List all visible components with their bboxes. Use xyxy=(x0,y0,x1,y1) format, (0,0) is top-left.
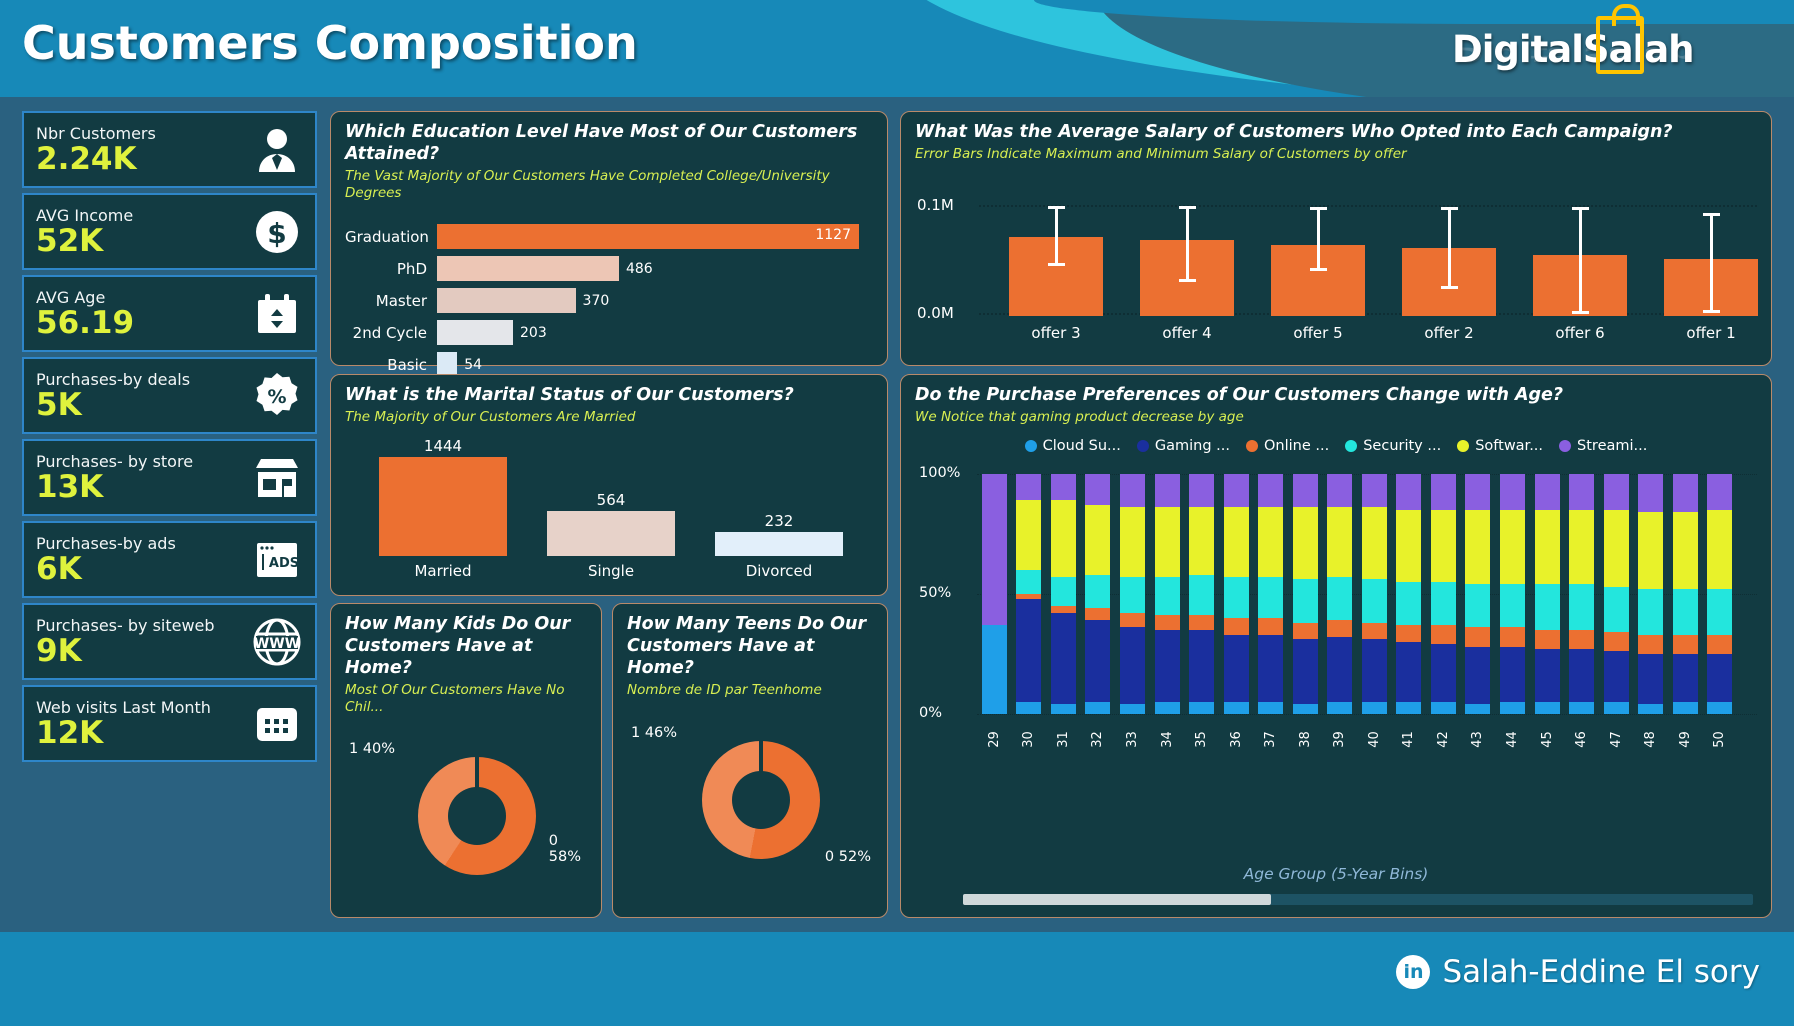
marital-status-plot: 1444Married564Single232Divorced xyxy=(345,434,873,582)
stacked-bar-column[interactable] xyxy=(1293,474,1318,714)
panel-title: What Was the Average Salary of Customers… xyxy=(915,122,1757,144)
kpi-card-avg-income[interactable]: AVG Income 52K $ xyxy=(22,193,317,270)
stacked-bar-segment[interactable] xyxy=(1465,627,1490,646)
legend-label: Streami... xyxy=(1577,438,1647,454)
error-bar-line xyxy=(1317,207,1320,270)
campaign-bar-column[interactable]: offer 6 xyxy=(1533,184,1627,316)
stacked-bar-segment[interactable] xyxy=(1673,702,1698,714)
stacked-bar-segment[interactable] xyxy=(1569,649,1594,702)
y-axis-tick-label: 0% xyxy=(919,705,942,721)
legend-item[interactable]: Cloud Su... xyxy=(1025,438,1121,454)
stacked-bar-segment[interactable] xyxy=(1707,635,1732,654)
stacked-bar-segment[interactable] xyxy=(1431,702,1456,714)
age-group-x-label: 29 xyxy=(987,718,1002,761)
stacked-bar-segment[interactable] xyxy=(1120,474,1145,508)
marital-status-chart-panel[interactable]: What is the Marital Status of Our Custom… xyxy=(330,374,888,596)
panel-subtitle: The Vast Majority of Our Customers Have … xyxy=(345,168,873,202)
stacked-bar-segment[interactable] xyxy=(1224,507,1249,577)
linkedin-icon[interactable]: in xyxy=(1396,955,1430,989)
stacked-bar-segment[interactable] xyxy=(1431,582,1456,625)
campaign-x-label: offer 5 xyxy=(1271,324,1365,342)
stacked-bar-segment[interactable] xyxy=(1604,510,1629,587)
stacked-bar-segment[interactable] xyxy=(1120,704,1145,714)
stacked-bar-segment[interactable] xyxy=(1604,632,1629,651)
stacked-bar-segment[interactable] xyxy=(1362,507,1387,579)
error-bar-line xyxy=(1448,207,1451,289)
kpi-value: 13K xyxy=(36,471,193,504)
stacked-bar-segment[interactable] xyxy=(1500,702,1525,714)
stacked-bar-column[interactable] xyxy=(1189,474,1214,714)
stacked-bar-column[interactable] xyxy=(1155,474,1180,714)
svg-text:WWW: WWW xyxy=(254,636,300,652)
error-bar-cap-bottom xyxy=(1179,279,1196,282)
stacked-bar-segment[interactable] xyxy=(1707,589,1732,635)
stacked-bar-segment[interactable] xyxy=(1673,654,1698,702)
marital-bar-column[interactable] xyxy=(547,511,675,556)
y-axis-tick-label: 50% xyxy=(919,585,951,601)
campaign-bar-column[interactable]: offer 3 xyxy=(1009,184,1103,316)
stacked-bar-column[interactable] xyxy=(1431,474,1456,714)
stacked-bar-segment[interactable] xyxy=(1535,630,1560,649)
chart-legend[interactable]: Cloud Su...Gaming ...Online ...Security … xyxy=(915,438,1757,454)
kpi-card-avg-age[interactable]: AVG Age 56.19 xyxy=(22,275,317,352)
stacked-bar-segment[interactable] xyxy=(1707,510,1732,589)
kpi-column: Nbr Customers 2.24K AVG Income 52K $ AVG… xyxy=(22,111,317,767)
stacked-bar-segment[interactable] xyxy=(1362,702,1387,714)
panel-title: How Many Kids Do Our Customers Have at H… xyxy=(345,614,587,680)
legend-label: Gaming ... xyxy=(1155,438,1230,454)
panel-title: Do the Purchase Preferences of Our Custo… xyxy=(915,385,1757,407)
campaign-bar-column[interactable]: offer 2 xyxy=(1402,184,1496,316)
stacked-bar-segment[interactable] xyxy=(1016,474,1041,500)
stacked-bar-column[interactable] xyxy=(1224,474,1249,714)
kpi-value: 5K xyxy=(36,389,190,422)
campaign-bar-column[interactable]: offer 1 xyxy=(1664,184,1758,316)
stacked-bar-segment[interactable] xyxy=(1120,577,1145,613)
marital-bar-column[interactable] xyxy=(715,532,843,556)
stacked-bar-segment[interactable] xyxy=(1396,702,1421,714)
age-group-x-label: 42 xyxy=(1436,718,1451,761)
kpi-card-purchases-by-deals[interactable]: Purchases-by deals 5K % xyxy=(22,357,317,434)
stacked-bar-segment[interactable] xyxy=(1535,584,1560,630)
stacked-bar-segment[interactable] xyxy=(1465,474,1490,510)
stacked-bar-segment[interactable] xyxy=(1120,627,1145,704)
education-bar-row[interactable]: PhD486 xyxy=(345,256,873,282)
error-bar-cap-bottom xyxy=(1572,311,1589,314)
campaign-salary-plot: 0.0M0.1Moffer 3offer 4offer 5offer 2offe… xyxy=(979,181,1757,316)
stacked-bar-segment[interactable] xyxy=(1189,474,1214,508)
stacked-bar-column[interactable] xyxy=(1638,474,1663,714)
stacked-bar-column[interactable] xyxy=(1327,474,1352,714)
teens-at-home-chart-panel[interactable]: How Many Teens Do Our Customers Have at … xyxy=(612,603,888,918)
legend-color-swatch xyxy=(1559,440,1571,452)
stacked-bar-segment[interactable] xyxy=(1673,474,1698,512)
stacked-bar-segment[interactable] xyxy=(1293,507,1318,579)
stacked-bar-segment[interactable] xyxy=(1569,702,1594,714)
stacked-bar-segment[interactable] xyxy=(1293,639,1318,704)
svg-text:$: $ xyxy=(267,217,286,250)
marital-bar[interactable] xyxy=(715,532,843,556)
scrollbar-thumb[interactable] xyxy=(963,894,1271,905)
legend-label: Softwar... xyxy=(1475,438,1543,454)
education-bar[interactable] xyxy=(437,320,513,345)
stacked-bar-column[interactable] xyxy=(1120,474,1145,714)
stacked-bar-segment[interactable] xyxy=(1707,702,1732,714)
donut-separator xyxy=(475,757,479,789)
brand-logo: DigitalSalah DigitalSalah xyxy=(1452,14,1772,86)
stacked-bar-segment[interactable] xyxy=(1431,510,1456,582)
stacked-bar-column[interactable] xyxy=(982,474,1007,714)
kpi-label: Purchases-by deals xyxy=(36,370,190,389)
stacked-bar-segment[interactable] xyxy=(1500,474,1525,510)
stacked-bar-segment[interactable] xyxy=(1085,608,1110,620)
kpi-card-purchases-by-siteweb[interactable]: Purchases- by siteweb 9K WWW xyxy=(22,603,317,680)
stacked-bar-segment[interactable] xyxy=(1155,577,1180,615)
kpi-label: Purchases-by ads xyxy=(36,534,176,553)
teens-donut-wrap: 1 46% 0 52% xyxy=(627,707,873,897)
svg-text:ADS: ADS xyxy=(269,556,299,571)
age-group-x-label: 34 xyxy=(1160,718,1175,761)
stacked-bar-segment[interactable] xyxy=(1362,474,1387,508)
panel-subtitle: The Majority of Our Customers Are Marrie… xyxy=(345,409,873,426)
stacked-bar-segment[interactable] xyxy=(1327,702,1352,714)
stacked-bar-segment[interactable] xyxy=(1224,618,1249,635)
stacked-bar-segment[interactable] xyxy=(1085,505,1110,575)
y-axis-tick-label: 100% xyxy=(919,465,960,481)
stacked-bar-segment[interactable] xyxy=(1396,625,1421,642)
education-bar-value: 203 xyxy=(520,325,547,341)
education-category-label: Master xyxy=(345,292,437,310)
error-bar-cap-bottom xyxy=(1048,263,1065,266)
storefront-icon xyxy=(251,452,303,504)
stacked-bar-segment[interactable] xyxy=(1569,510,1594,584)
kpi-label: Nbr Customers xyxy=(36,124,156,143)
stacked-bar-segment[interactable] xyxy=(1362,579,1387,622)
stacked-bar-column[interactable] xyxy=(1707,474,1732,714)
dashboard-header: Customers Composition DigitalSalah Digit… xyxy=(0,0,1794,97)
stacked-bar-column[interactable] xyxy=(1535,474,1560,714)
stacked-bar-segment[interactable] xyxy=(1293,579,1318,622)
stacked-bar-segment[interactable] xyxy=(1189,615,1214,629)
stacked-bar-segment[interactable] xyxy=(1224,702,1249,714)
stacked-bar-segment[interactable] xyxy=(1500,510,1525,584)
marital-bar-column[interactable] xyxy=(379,457,507,555)
legend-item[interactable]: Online ... xyxy=(1246,438,1329,454)
stacked-bar-segment[interactable] xyxy=(1569,630,1594,649)
stacked-bar-segment[interactable] xyxy=(1327,474,1352,508)
stacked-bar-segment[interactable] xyxy=(1673,635,1698,654)
stacked-bar-segment[interactable] xyxy=(1396,642,1421,702)
education-bar[interactable]: 1127 xyxy=(437,224,859,249)
education-category-label: Basic xyxy=(345,356,437,374)
campaign-x-label: offer 2 xyxy=(1402,324,1496,342)
stacked-bar-segment[interactable] xyxy=(1604,702,1629,714)
stacked-bar-segment[interactable] xyxy=(1258,577,1283,618)
stacked-bar-segment[interactable] xyxy=(1638,474,1663,512)
kpi-value: 9K xyxy=(36,635,215,668)
stacked-bar-column[interactable] xyxy=(1258,474,1283,714)
marital-bar[interactable] xyxy=(547,511,675,556)
legend-item[interactable]: Softwar... xyxy=(1457,438,1543,454)
stacked-bar-segment[interactable] xyxy=(1258,474,1283,508)
education-bar[interactable] xyxy=(437,288,576,313)
panel-subtitle: Error Bars Indicate Maximum and Minimum … xyxy=(915,146,1757,163)
stacked-bar-segment[interactable] xyxy=(1155,474,1180,508)
marital-category-label: Single xyxy=(547,562,675,580)
kpi-value: 6K xyxy=(36,553,176,586)
stacked-bar-segment[interactable] xyxy=(1155,507,1180,577)
age-group-x-label: 49 xyxy=(1678,718,1693,761)
stacked-bar-segment[interactable] xyxy=(1085,702,1110,714)
stacked-bar-segment[interactable] xyxy=(1638,589,1663,635)
marital-category-label: Married xyxy=(379,562,507,580)
stacked-bar-segment[interactable] xyxy=(1120,613,1145,627)
error-bar-cap-top xyxy=(1703,213,1720,216)
stacked-bar-segment[interactable] xyxy=(1189,507,1214,574)
kpi-card-nbr-customers[interactable]: Nbr Customers 2.24K xyxy=(22,111,317,188)
kids-at-home-chart-panel[interactable]: How Many Kids Do Our Customers Have at H… xyxy=(330,603,602,918)
stacked-bar-segment[interactable] xyxy=(1362,623,1387,640)
stacked-bar-segment[interactable] xyxy=(1016,570,1041,594)
campaign-x-label: offer 4 xyxy=(1140,324,1234,342)
logo-text-left: Digital xyxy=(1452,28,1583,71)
stacked-bar-segment[interactable] xyxy=(1085,575,1110,609)
stacked-bar-segment[interactable] xyxy=(1638,654,1663,704)
age-group-x-label: 37 xyxy=(1263,718,1278,761)
stacked-bar-segment[interactable] xyxy=(1016,500,1041,570)
stacked-bar-column[interactable] xyxy=(1085,474,1110,714)
stacked-bar-segment[interactable] xyxy=(1535,474,1560,510)
stacked-bar-segment[interactable] xyxy=(1431,625,1456,644)
stacked-bar-segment[interactable] xyxy=(1431,644,1456,702)
stacked-bar-segment[interactable] xyxy=(1155,615,1180,629)
stacked-bar-segment[interactable] xyxy=(1016,702,1041,714)
stacked-bar-segment[interactable] xyxy=(1396,474,1421,510)
stacked-bar-segment[interactable] xyxy=(982,625,1007,714)
report-canvas: Nbr Customers 2.24K AVG Income 52K $ AVG… xyxy=(0,97,1794,932)
legend-label: Cloud Su... xyxy=(1043,438,1121,454)
campaign-bar-column[interactable]: offer 5 xyxy=(1271,184,1365,316)
stacked-bar-column[interactable] xyxy=(1465,474,1490,714)
age-group-x-label: 32 xyxy=(1090,718,1105,761)
author-name: Salah-Eddine El sory xyxy=(1442,954,1760,990)
stacked-bar-segment[interactable] xyxy=(1465,584,1490,627)
purchase-preference-chart-panel[interactable]: Do the Purchase Preferences of Our Custo… xyxy=(900,374,1772,918)
stacked-bar-segment[interactable] xyxy=(1155,630,1180,702)
education-category-label: PhD xyxy=(345,260,437,278)
education-bar-row[interactable]: Master370 xyxy=(345,288,873,314)
stacked-bar-segment[interactable] xyxy=(1258,702,1283,714)
stacked-bar-segment[interactable] xyxy=(1638,635,1663,654)
panel-title: Which Education Level Have Most of Our C… xyxy=(345,122,873,166)
stacked-bar-segment[interactable] xyxy=(1500,647,1525,702)
stacked-bar-segment[interactable] xyxy=(1120,507,1145,577)
education-bar-rows: Graduation1127PhD486Master3702nd Cycle20… xyxy=(345,224,873,378)
kpi-card-purchases-by-ads[interactable]: Purchases-by ads 6K ADS xyxy=(22,521,317,598)
stacked-bar-segment[interactable] xyxy=(1604,651,1629,701)
stacked-bar-column[interactable] xyxy=(1362,474,1387,714)
donut-label-slice-0: 0 52% xyxy=(825,849,871,865)
kpi-label: Purchases- by store xyxy=(36,452,193,471)
stacked-bar-column[interactable] xyxy=(1016,474,1041,714)
legend-label: Security ... xyxy=(1363,438,1441,454)
stacked-bar-segment[interactable] xyxy=(1327,577,1352,620)
stacked-bar-segment[interactable] xyxy=(1327,620,1352,637)
legend-color-swatch xyxy=(1137,440,1149,452)
error-bar-cap-top xyxy=(1310,207,1327,210)
ads-window-icon: ADS xyxy=(251,534,303,586)
stacked-bar-column[interactable] xyxy=(1569,474,1594,714)
legend-item[interactable]: Gaming ... xyxy=(1137,438,1230,454)
stacked-bar-segment[interactable] xyxy=(1224,474,1249,508)
stacked-bar-segment[interactable] xyxy=(1051,704,1076,714)
x-axis-title: Age Group (5-Year Bins) xyxy=(901,865,1771,883)
kpi-value: 52K xyxy=(36,225,133,258)
error-bar-cap-top xyxy=(1048,206,1065,209)
stacked-bar-segment[interactable] xyxy=(1431,474,1456,510)
author-credit: in Salah-Eddine El sory xyxy=(1396,954,1760,990)
education-category-label: 2nd Cycle xyxy=(345,324,437,342)
panel-subtitle: Most Of Our Customers Have No Chil... xyxy=(345,682,587,716)
campaign-bar-column[interactable]: offer 4 xyxy=(1140,184,1234,316)
stacked-bar-segment[interactable] xyxy=(1051,500,1076,577)
kpi-label: Web visits Last Month xyxy=(36,698,211,717)
campaign-x-label: offer 3 xyxy=(1009,324,1103,342)
error-bar-line xyxy=(1710,213,1713,313)
stacked-bar-segment[interactable] xyxy=(1396,510,1421,582)
donut-label-slice-1: 1 46% xyxy=(631,725,677,741)
stacked-bar-segment[interactable] xyxy=(1016,599,1041,702)
age-group-x-label: 35 xyxy=(1194,718,1209,761)
stacked-bar-segment[interactable] xyxy=(1051,474,1076,500)
stacked-bar-segment[interactable] xyxy=(1673,589,1698,635)
kpi-label: AVG Income xyxy=(36,206,133,225)
svg-text:%: % xyxy=(267,386,286,408)
education-category-label: Graduation xyxy=(345,228,437,246)
stacked-bar-segment[interactable] xyxy=(1293,704,1318,714)
stacked-bar-segment[interactable] xyxy=(1224,577,1249,618)
stacked-bar-segment[interactable] xyxy=(1673,512,1698,589)
education-bar-value: 370 xyxy=(583,293,610,309)
stacked-bar-segment[interactable] xyxy=(1465,647,1490,705)
legend-color-swatch xyxy=(1345,440,1357,452)
page-title: Customers Composition xyxy=(22,16,638,70)
stacked-bar-segment[interactable] xyxy=(1465,704,1490,714)
stacked-bar-segment[interactable] xyxy=(1051,606,1076,613)
stacked-bar-segment[interactable] xyxy=(1189,575,1214,616)
panel-subtitle: Nombre de ID par Teenhome xyxy=(627,682,873,699)
stacked-bar-segment[interactable] xyxy=(1604,474,1629,510)
stacked-bar-segment[interactable] xyxy=(1258,507,1283,577)
stacked-bar-segment[interactable] xyxy=(1535,510,1560,584)
stacked-bar-segment[interactable] xyxy=(1189,630,1214,702)
campaign-salary-chart-panel[interactable]: What Was the Average Salary of Customers… xyxy=(900,111,1772,366)
stacked-bar-segment[interactable] xyxy=(1085,474,1110,505)
stacked-bar-segment[interactable] xyxy=(1258,635,1283,702)
stacked-bar-segment[interactable] xyxy=(1293,623,1318,640)
gridline xyxy=(977,714,1757,715)
stacked-bar-segment[interactable] xyxy=(1535,702,1560,714)
age-group-x-label: 43 xyxy=(1470,718,1485,761)
education-bar-row[interactable]: 2nd Cycle203 xyxy=(345,320,873,346)
legend-color-swatch xyxy=(1025,440,1037,452)
shopping-bag-icon xyxy=(1596,16,1644,74)
age-group-x-label: 46 xyxy=(1574,718,1589,761)
education-level-chart-panel[interactable]: Which Education Level Have Most of Our C… xyxy=(330,111,888,366)
stacked-bar-column[interactable] xyxy=(1396,474,1421,714)
age-group-x-label: 38 xyxy=(1298,718,1313,761)
kpi-card-web-visits-last-month[interactable]: Web visits Last Month 12K xyxy=(22,685,317,762)
horizontal-scrollbar[interactable] xyxy=(963,894,1753,905)
stacked-bar-segment[interactable] xyxy=(1638,704,1663,714)
stacked-bar-segment[interactable] xyxy=(1604,587,1629,633)
stacked-bar-segment[interactable] xyxy=(1500,627,1525,646)
stacked-bar-segment[interactable] xyxy=(1327,637,1352,702)
dashboard-footer: in Salah-Eddine El sory xyxy=(0,932,1794,1026)
stacked-bar-segment[interactable] xyxy=(1638,512,1663,589)
stacked-bar-segment[interactable] xyxy=(982,474,1007,625)
education-bar[interactable] xyxy=(437,256,619,281)
stacked-bar-segment[interactable] xyxy=(1258,618,1283,635)
stacked-bar-segment[interactable] xyxy=(1396,582,1421,625)
age-group-x-label: 30 xyxy=(1021,718,1036,761)
legend-item[interactable]: Security ... xyxy=(1345,438,1441,454)
stacked-bar-column[interactable] xyxy=(1051,474,1076,714)
kpi-value: 2.24K xyxy=(36,143,156,176)
kids-donut-chart xyxy=(418,757,536,875)
marital-bar-value: 232 xyxy=(715,512,843,530)
stacked-bar-segment[interactable] xyxy=(1569,474,1594,510)
stacked-bar-segment[interactable] xyxy=(1465,510,1490,584)
stacked-bar-segment[interactable] xyxy=(1569,584,1594,630)
stacked-bar-segment[interactable] xyxy=(1293,474,1318,508)
panel-subtitle: We Notice that gaming product decrease b… xyxy=(915,409,1757,426)
error-bar-cap-top xyxy=(1179,206,1196,209)
age-group-x-label: 47 xyxy=(1609,718,1624,761)
stacked-bar-column[interactable] xyxy=(1604,474,1629,714)
stacked-bar-segment[interactable] xyxy=(1535,649,1560,702)
dollar-circle-icon: $ xyxy=(251,206,303,258)
education-bar-value: 1127 xyxy=(815,227,851,243)
stacked-bar-column[interactable] xyxy=(1673,474,1698,714)
donut-separator xyxy=(759,741,763,773)
error-bar-cap-top xyxy=(1572,207,1589,210)
error-bar-cap-bottom xyxy=(1441,286,1458,289)
stacked-bar-segment[interactable] xyxy=(1707,654,1732,702)
stacked-bar-segment[interactable] xyxy=(1362,639,1387,701)
stacked-bar-segment[interactable] xyxy=(1051,577,1076,606)
stacked-bar-segment[interactable] xyxy=(1327,507,1352,577)
purchase-preference-plot: 0%50%100%2930313233343536373839404142434… xyxy=(977,466,1757,728)
age-group-x-label: 39 xyxy=(1332,718,1347,761)
stacked-bar-segment[interactable] xyxy=(1051,613,1076,704)
stacked-bar-segment[interactable] xyxy=(1500,584,1525,627)
stacked-bar-segment[interactable] xyxy=(1155,702,1180,714)
stacked-bar-column[interactable] xyxy=(1500,474,1525,714)
marital-bar[interactable] xyxy=(379,457,507,555)
donut-label-slice-1: 1 40% xyxy=(349,741,395,757)
marital-bar-value: 1444 xyxy=(379,437,507,455)
age-group-x-label: 33 xyxy=(1125,718,1140,761)
kpi-card-purchases-by-store[interactable]: Purchases- by store 13K xyxy=(22,439,317,516)
stacked-bar-segment[interactable] xyxy=(1224,635,1249,702)
stacked-bar-segment[interactable] xyxy=(1085,620,1110,702)
stacked-bar-segment[interactable] xyxy=(1189,702,1214,714)
legend-label: Online ... xyxy=(1264,438,1329,454)
legend-item[interactable]: Streami... xyxy=(1559,438,1647,454)
stacked-bar-segment[interactable] xyxy=(1707,474,1732,510)
education-bar-row[interactable]: Graduation1127 xyxy=(345,224,873,250)
